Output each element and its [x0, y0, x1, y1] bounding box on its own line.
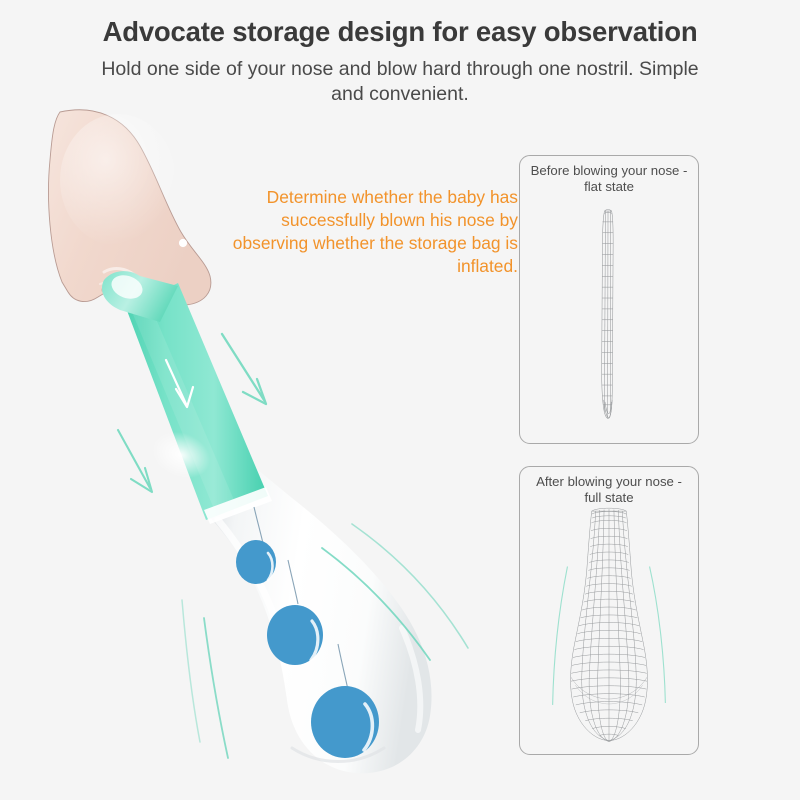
page-title: Advocate storage design for easy observa…: [0, 18, 800, 46]
header: Advocate storage design for easy observa…: [0, 0, 800, 108]
airflow-arrow-icon: [222, 334, 266, 404]
page-subtitle: Hold one side of your nose and blow hard…: [100, 57, 700, 109]
observation-callout-text: Determine whether the baby has successfu…: [228, 186, 518, 278]
device-handle: [126, 283, 272, 524]
nose-highlight: [179, 239, 187, 247]
infographic-page: Advocate storage design for easy observa…: [0, 0, 800, 800]
panel-after-blowing: After blowing your nose - full state: [519, 466, 699, 755]
flat-storage-bag-wireframe: [520, 156, 698, 443]
panel-before-blowing: Before blowing your nose - flat state: [519, 155, 699, 444]
airflow-arrow-2-icon: [118, 430, 152, 492]
full-storage-bag-wireframe: [520, 467, 698, 754]
